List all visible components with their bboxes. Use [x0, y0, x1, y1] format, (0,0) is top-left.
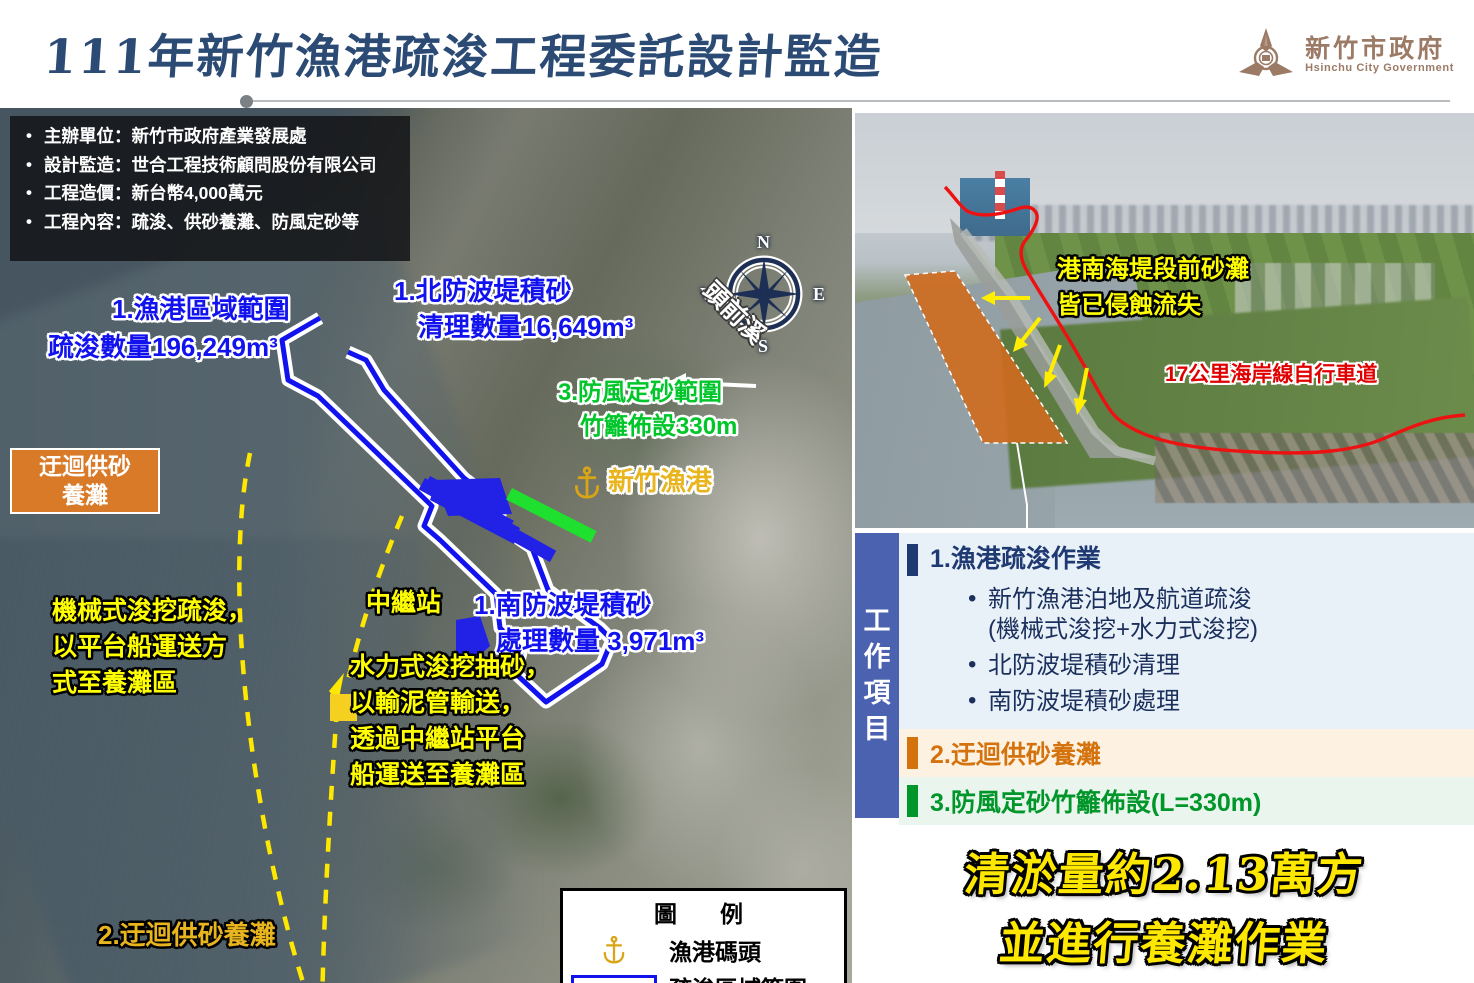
- slogan-line1: 清淤量約2.13萬方: [962, 838, 1367, 903]
- slide-header: 111年新竹漁港疏浚工程委託設計監造 新竹市政府: [0, 0, 1474, 108]
- nourishment-callout-line2: 養灘: [62, 481, 108, 510]
- work-section-title: 3.防風定砂竹籬佈設(L=330m): [930, 783, 1261, 819]
- legend-row-wharf: 漁港碼頭: [563, 931, 844, 968]
- slide-root: 111年新竹漁港疏浚工程委託設計監造 新竹市政府: [0, 0, 1474, 983]
- compass-east-label: E: [813, 284, 825, 305]
- info-item: 主辦單位：新竹市政府產業發展處: [22, 128, 400, 146]
- harbor-area-label-line1: 1.漁港區域範圍: [112, 294, 290, 326]
- anchor-icon: [571, 938, 657, 962]
- logo-text-block: 新竹市政府 Hsinchu City Government: [1305, 36, 1454, 74]
- work-heading-char: 作: [864, 644, 891, 671]
- north-breakwater-label-line2: 清理數量16,649m³: [418, 312, 633, 344]
- south-breakwater-label-line1: 1.南防波堤積砂: [474, 590, 652, 622]
- logo-name-cn: 新竹市政府: [1305, 36, 1445, 62]
- work-heading-char: 目: [864, 716, 891, 743]
- legend-label: 漁港碼頭: [669, 933, 761, 967]
- work-section-title: 1.漁港疏浚作業: [930, 539, 1474, 575]
- legend-row-dredge-area: 疏浚區域範圍: [563, 968, 844, 983]
- work-heading-char: 工: [864, 608, 891, 635]
- windbreak-label-line2: 竹籬佈設330m: [580, 412, 737, 441]
- outline-swatch-icon: [571, 975, 657, 983]
- work-subitem: 新竹漁港泊地及航道疏浚 (機械式浚挖+水力式浚挖): [968, 585, 1474, 645]
- satellite-map-panel: 主辦單位：新竹市政府產業發展處 設計監造：世合工程技術顧問股份有限公司 工程造價…: [0, 108, 852, 983]
- work-items-heading: 工 作 項 目: [855, 533, 899, 818]
- work-heading-char: 項: [864, 680, 891, 707]
- work-section-nourishment: 2.迂迴供砂養灘: [899, 729, 1474, 777]
- port-anchor-icon: [572, 466, 602, 505]
- beach-nourishment-label: 2.迂迴供砂養灘: [98, 920, 276, 952]
- windbreak-label-line1: 3.防風定砂範圍: [558, 378, 722, 407]
- port-name-label: 新竹漁港: [608, 466, 712, 498]
- legend-title: 圖 例: [563, 891, 844, 931]
- section-color-bar-navy: [907, 544, 918, 576]
- info-item: 工程內容：疏浚、供砂養灘、防風定砂等: [22, 214, 400, 232]
- title-divider: [240, 100, 1450, 102]
- section-color-bar-green: [907, 785, 918, 817]
- north-breakwater-label-line1: 1.北防波堤積砂: [394, 276, 572, 308]
- mechanical-note-line3: 式至養灘區: [52, 668, 177, 699]
- bikeway-label: 17公里海岸線自行車道: [1165, 358, 1377, 388]
- work-subitem: 南防波堤積砂處理: [968, 687, 1474, 717]
- mechanical-route: [239, 453, 318, 983]
- work-items-panel: 工 作 項 目 1.漁港疏浚作業 新竹漁港泊地及航道疏浚 (機械式浚挖+水力式浚…: [855, 533, 1474, 818]
- slogan-block: 清淤量約2.13萬方 並進行養灘作業: [855, 826, 1474, 983]
- slogan-line2: 並進行養灘作業: [997, 907, 1332, 972]
- compass-north-label: N: [757, 232, 770, 253]
- work-items-body: 1.漁港疏浚作業 新竹漁港泊地及航道疏浚 (機械式浚挖+水力式浚挖) 北防波堤積…: [899, 533, 1474, 818]
- legend-label: 疏浚區域範圍: [669, 970, 807, 983]
- info-item: 工程造價：新台幣4,000萬元: [22, 185, 400, 203]
- hydraulic-note-line4: 船運送至養灘區: [350, 760, 525, 791]
- erosion-note-line1: 港南海堤段前砂灘: [1057, 255, 1249, 285]
- title-divider-dot: [240, 95, 253, 108]
- aerial-photo-panel: 港南海堤段前砂灘 皆已侵蝕流失 17公里海岸線自行車道: [855, 113, 1474, 528]
- map-legend: 圖 例 漁港碼頭 疏浚區域範圍: [560, 888, 847, 983]
- hydraulic-note-line1: 水力式浚挖抽砂，: [350, 652, 550, 683]
- nourishment-callout-line1: 迂迴供砂: [39, 452, 131, 481]
- mechanical-note-line2: 以平台船運送方: [52, 632, 227, 663]
- erosion-note-line2: 皆已侵蝕流失: [1057, 291, 1201, 321]
- nourishment-callout-box: 迂迴供砂 養灘: [10, 448, 160, 514]
- work-subitem-line1: 新竹漁港泊地及航道疏浚: [988, 586, 1252, 613]
- harbor-area-label-line2: 疏浚數量196,249m³: [48, 332, 278, 364]
- page-title: 111年新竹漁港疏浚工程委託設計監造: [42, 18, 886, 87]
- work-section-windbreak: 3.防風定砂竹籬佈設(L=330m): [899, 777, 1474, 825]
- hydraulic-note-line3: 透過中繼站平台: [350, 724, 525, 755]
- work-section-title: 2.迂迴供砂養灘: [930, 735, 1101, 771]
- work-subitem: 北防波堤積砂清理: [968, 651, 1474, 681]
- city-emblem-icon: [1237, 26, 1295, 84]
- info-item: 設計監造：世合工程技術顧問股份有限公司: [22, 157, 400, 175]
- hsinchu-city-government-logo: 新竹市政府 Hsinchu City Government: [1237, 24, 1454, 86]
- hydraulic-note-line2: 以輸泥管輸送，: [350, 688, 525, 719]
- work-subitem-line2: (機械式浚挖+水力式浚挖): [988, 615, 1474, 645]
- work-section-dredging: 1.漁港疏浚作業 新竹漁港泊地及航道疏浚 (機械式浚挖+水力式浚挖) 北防波堤積…: [899, 533, 1474, 729]
- project-info-box: 主辦單位：新竹市政府產業發展處 設計監造：世合工程技術顧問股份有限公司 工程造價…: [10, 116, 410, 261]
- relay-station-label: 中繼站: [366, 588, 441, 619]
- mechanical-note-line1: 機械式浚挖疏浚，: [52, 596, 252, 627]
- logo-name-en: Hsinchu City Government: [1305, 62, 1454, 74]
- section-color-bar-orange: [907, 737, 918, 769]
- work-sublist: 新竹漁港泊地及航道疏浚 (機械式浚挖+水力式浚挖) 北防波堤積砂清理 南防波堤積…: [968, 585, 1474, 717]
